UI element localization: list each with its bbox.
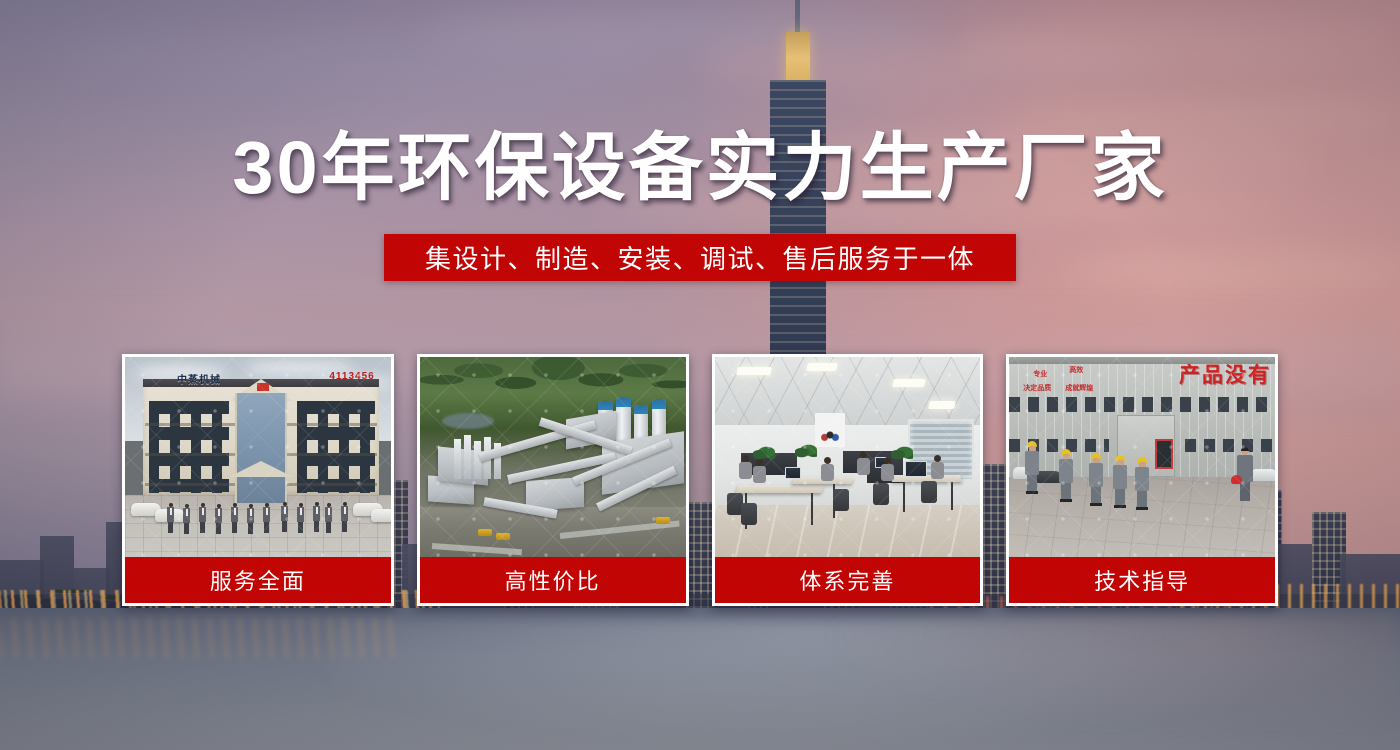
- staff-figure: [215, 504, 222, 534]
- staff-figure: [167, 503, 174, 533]
- staff-figure: [231, 503, 238, 533]
- factory-wall-subtext: 高效: [1069, 367, 1083, 376]
- staff-figure: [297, 503, 304, 533]
- feature-card-row: 中蒸机械 4113456 服: [122, 354, 1278, 606]
- worker-figure: [1135, 457, 1149, 509]
- wall-poster: [815, 413, 845, 447]
- office-staff-figure: [881, 457, 894, 487]
- staff-figure: [263, 503, 270, 533]
- worker-figure: [1025, 441, 1039, 493]
- staff-figure: [341, 502, 348, 532]
- industrial-plant-aerial-photo: [420, 357, 686, 557]
- office-staff-figure: [753, 459, 766, 489]
- staff-figure: [183, 504, 190, 534]
- feature-card[interactable]: 中蒸机械 4113456 服: [122, 354, 394, 606]
- staff-figure: [281, 502, 288, 532]
- building-signage-text: 中蒸机械: [177, 371, 221, 386]
- staff-figure: [325, 503, 332, 533]
- office-staff-figure: [931, 455, 944, 485]
- subtitle-red-bar: 集设计、制造、安装、调试、售后服务于一体: [384, 234, 1016, 281]
- factory-wall-slogan: 产品没有: [1179, 359, 1271, 389]
- worker-figure: [1113, 455, 1127, 507]
- banner-headline: 30年环保设备实力生产厂家: [0, 131, 1400, 205]
- staff-figure: [199, 503, 206, 533]
- worker-figure: [1059, 449, 1073, 501]
- card-label: 技术指导: [1009, 557, 1275, 603]
- card-label: 高性价比: [420, 557, 686, 603]
- subtitle-text: 集设计、制造、安装、调试、售后服务于一体: [425, 239, 975, 276]
- staff-figure: [247, 504, 254, 534]
- feature-card[interactable]: 产品没有 专业 高效 决定品质 成就辉煌: [1006, 354, 1278, 606]
- card-label: 服务全面: [125, 557, 391, 603]
- water-light-reflection: [0, 618, 400, 658]
- factory-workers-training-photo: 产品没有 专业 高效 决定品质 成就辉煌: [1009, 357, 1275, 557]
- worker-figure: [1089, 453, 1103, 505]
- company-headquarters-photo: 中蒸机械 4113456: [125, 357, 391, 557]
- staff-figure: [313, 502, 320, 532]
- feature-card[interactable]: 体系完善: [712, 354, 984, 606]
- office-interior-photo: [715, 357, 981, 557]
- office-staff-figure: [857, 451, 870, 481]
- card-label: 体系完善: [715, 557, 981, 603]
- feature-card[interactable]: 高性价比: [417, 354, 689, 606]
- water-warm-reflection: [820, 612, 1400, 732]
- factory-wall-subtext: 专业: [1033, 371, 1047, 380]
- factory-wall-subtext: 决定品质: [1023, 385, 1051, 394]
- office-staff-figure: [739, 455, 752, 485]
- building-phone-text: 4113456: [329, 371, 374, 382]
- promo-banner: 30年环保设备实力生产厂家 集设计、制造、安装、调试、售后服务于一体: [0, 0, 1400, 750]
- factory-wall-subtext: 成就辉煌: [1065, 385, 1093, 394]
- office-staff-figure: [821, 457, 834, 487]
- supervisor-figure: [1237, 447, 1253, 503]
